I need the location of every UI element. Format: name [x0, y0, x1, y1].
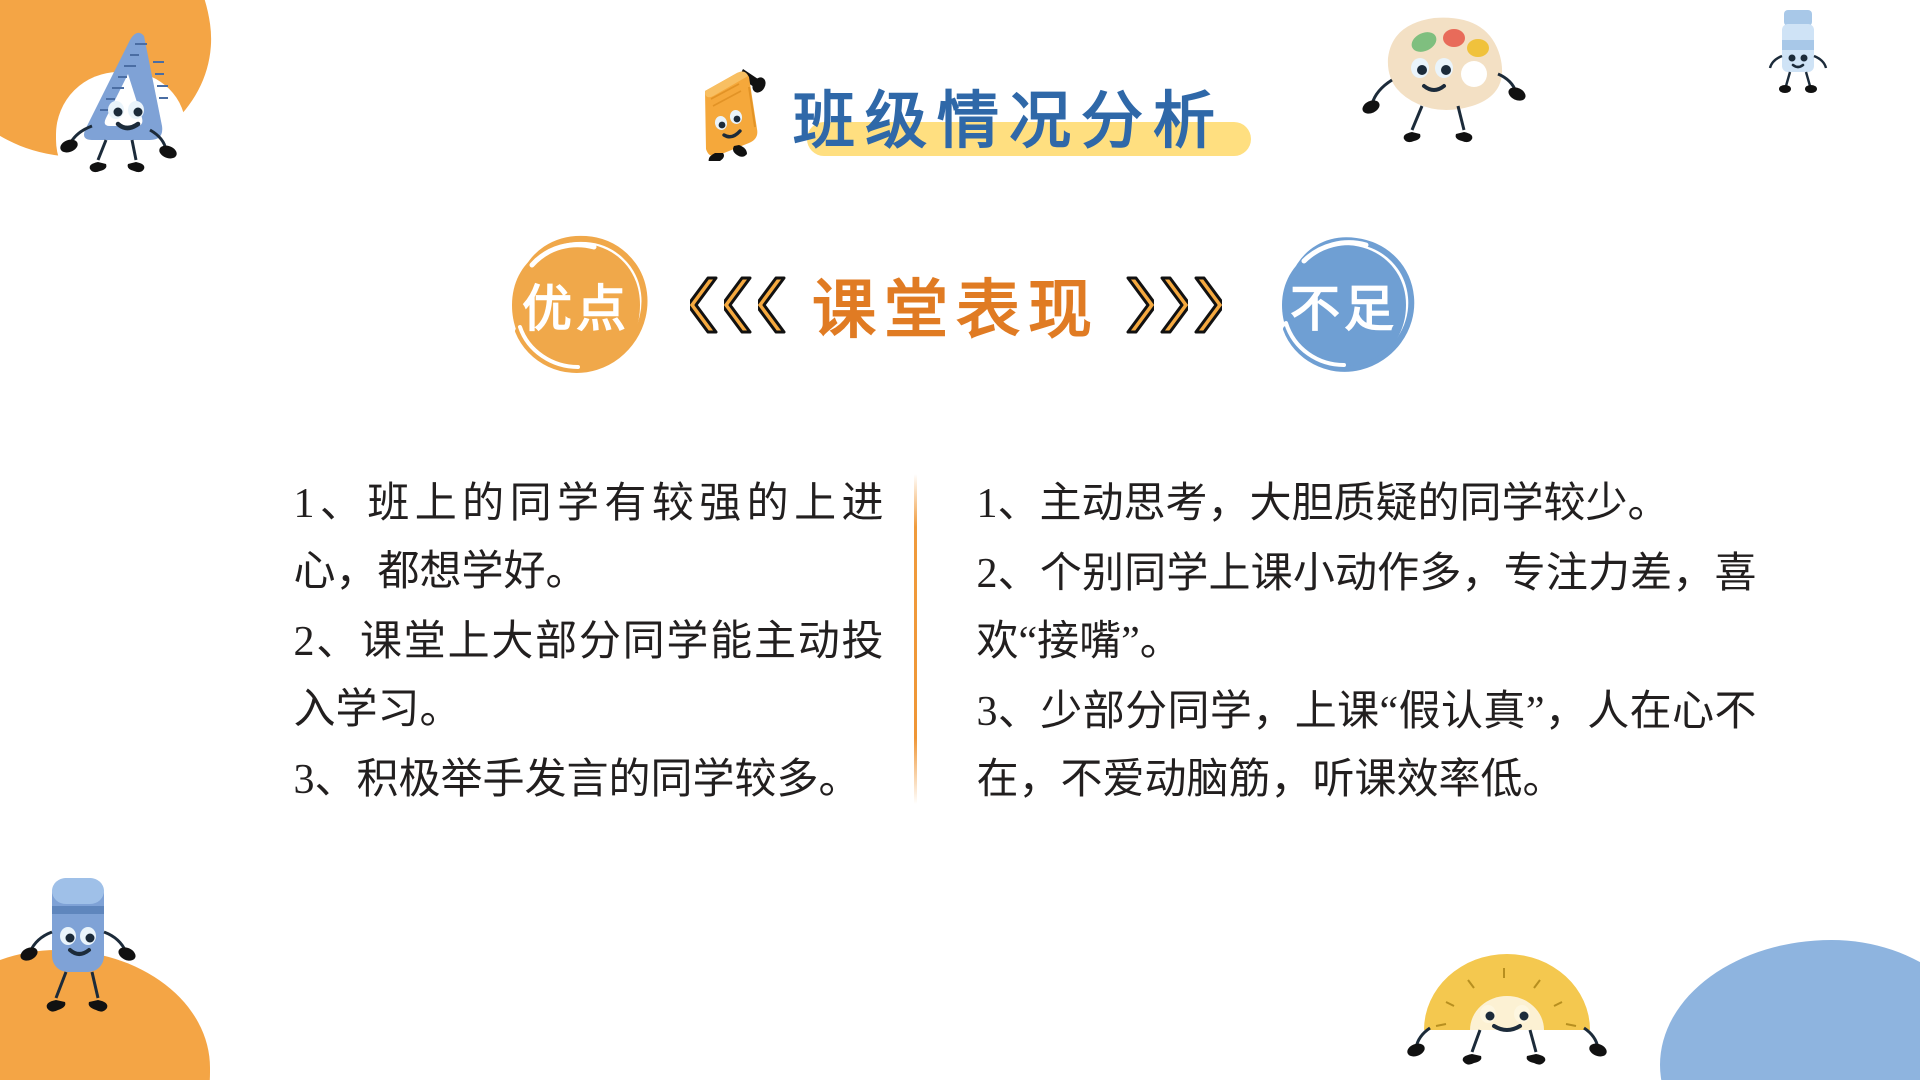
protractor-mascot-icon	[1412, 946, 1602, 1066]
slide-canvas: 班级情况分析 优点 课堂表现	[0, 0, 1920, 1080]
cons-column: 1、主动思考，大胆质疑的同学较少。 2、个别同学上课小动作多，专注力差，喜欢“接…	[917, 470, 1797, 890]
pros-item: 3、积极举手发言的同学较多。	[294, 746, 884, 814]
cons-badge-label: 不足	[1290, 269, 1398, 341]
chevron-right-triple-icon	[1122, 274, 1222, 336]
page-title: 班级情况分析	[0, 60, 1920, 170]
pros-column: 1、班上的同学有较强的上进心，都想学好。 2、课堂上大部分同学能主动投入学习。 …	[124, 470, 914, 890]
section-heading: 课堂表现	[812, 259, 1100, 351]
pros-badge-label: 优点	[522, 269, 630, 341]
title-text: 班级情况分析	[793, 88, 1225, 156]
pros-item: 1、班上的同学有较强的上进心，都想学好。	[294, 470, 884, 606]
content-columns: 1、班上的同学有较强的上进心，都想学好。 2、课堂上大部分同学能主动投入学习。 …	[0, 470, 1920, 890]
pros-item: 2、课堂上大部分同学能主动投入学习。	[294, 608, 884, 744]
cons-item: 1、主动思考，大胆质疑的同学较少。	[977, 470, 1757, 538]
corner-blob-bottom-right	[1660, 940, 1920, 1080]
section-header-row: 优点 课堂表现 不足	[0, 230, 1920, 380]
chevron-left-triple-icon	[690, 274, 790, 336]
pros-badge[interactable]: 优点	[502, 231, 650, 379]
eraser-mascot-icon	[22, 870, 142, 1020]
book-mascot-icon	[695, 65, 767, 166]
cons-item: 3、少部分同学，上课“假认真”，人在心不在，不爱动脑筋，听课效率低。	[977, 678, 1757, 814]
cons-badge[interactable]: 不足	[1270, 231, 1418, 379]
cons-item: 2、个别同学上课小动作多，专注力差，喜欢“接嘴”。	[977, 540, 1757, 676]
